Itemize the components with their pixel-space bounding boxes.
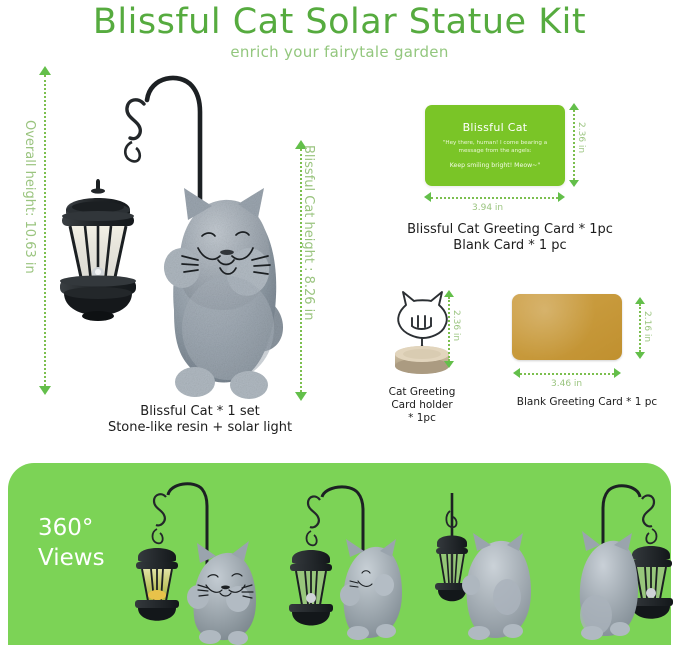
overall-height-arrow-top [39,66,51,75]
greeting-card-width-label: 3.94 in [472,203,503,213]
blank-card-caption: Blank Greeting Card * 1 pc [487,396,679,409]
greeting-card-title: Blissful Cat [425,121,565,134]
cat-statue-with-lantern-illustration [52,60,302,400]
greeting-card-caption-line1: Blissful Cat Greeting Card * 1pc [400,222,620,238]
card-holder-height-label: 2.36 in [451,310,461,341]
blank-card-height-arrow-top [635,297,645,304]
greeting-card-height-arrow-bottom [569,180,579,187]
greeting-card-caption: Blissful Cat Greeting Card * 1pc Blank C… [400,222,620,254]
greeting-card-message-line1: "Hey there, human! I come bearing a [433,139,557,147]
greeting-card-height-line [573,110,575,180]
overall-height-label: Overall height: 10.63 in [22,120,37,274]
greeting-card-message-line3: Keep smiling bright! Meow~" [433,162,557,169]
blank-card-height-label: 2.16 in [642,311,652,342]
main-statue-caption-line1: Blissful Cat * 1 set [55,404,345,420]
greeting-card-width-line [431,197,558,199]
greeting-card-width-arrow-right [558,192,565,202]
greeting-card-height-arrow-top [569,103,579,110]
blank-card-width-arrow-left [513,368,520,378]
greeting-card-message-line2: message from the angels: [433,147,557,155]
card-holder-caption-line1: Cat Greeting [362,386,482,399]
view-thumbnail-back [433,481,543,643]
overall-height-line [44,75,46,386]
card-holder-caption-line2: Card holder [362,399,482,412]
view-thumbnail-other-side [566,477,676,643]
blank-card-width-label: 3.46 in [551,379,582,389]
greeting-card-caption-line2: Blank Card * 1 pc [400,238,620,254]
greeting-card-message: "Hey there, human! I come bearing a mess… [433,139,557,155]
cat-height-label: Blissful Cat height : 8.26 in [301,145,316,321]
greeting-card-width-arrow-left [424,192,431,202]
card-holder-height-arrow-bottom [444,361,454,368]
greeting-card-height-label: 2.36 in [576,122,586,153]
card-holder-caption: Cat Greeting Card holder * 1pc [362,386,482,425]
product-infographic: Blissful Cat Solar Statue Kit enrich you… [0,0,679,645]
blank-card-height-arrow-bottom [635,352,645,359]
blank-card-width-line [520,373,614,375]
card-holder-height-arrow-top [444,290,454,297]
views-panel: 360° Views [8,463,671,645]
page-title: Blissful Cat Solar Statue Kit [0,2,679,42]
main-statue-caption-line2: Stone-like resin + solar light [55,420,345,436]
blissful-cat-greeting-card: Blissful Cat "Hey there, human! I come b… [425,105,565,186]
card-holder-height-line [448,297,450,361]
card-holder-caption-line3: * 1pc [362,412,482,425]
overall-height-arrow-bottom [39,386,51,395]
view-thumbnail-side [288,481,408,643]
view-thumbnail-front [132,477,262,643]
page-subtitle: enrich your fairytale garden [0,43,679,61]
main-statue-caption: Blissful Cat * 1 set Stone-like resin + … [55,404,345,436]
blank-card-caption-line1: Blank Greeting Card * 1 pc [487,396,679,409]
blank-greeting-card [512,294,622,360]
blank-card-height-line [639,304,641,352]
blank-card-width-arrow-right [614,368,621,378]
